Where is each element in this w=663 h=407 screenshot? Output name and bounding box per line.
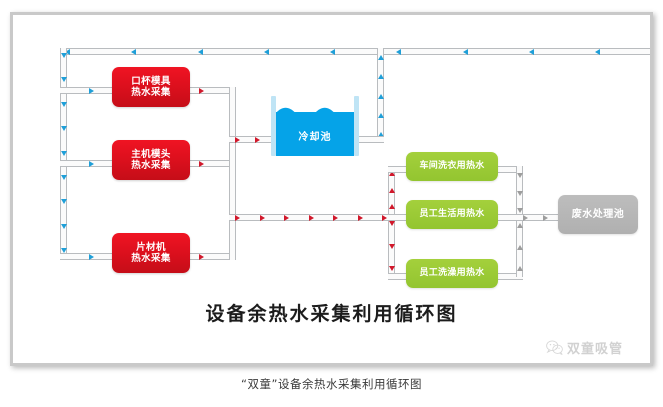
use-node-3[interactable]: 员工洗澡用热水 (406, 259, 498, 288)
hot-collector-upper (229, 87, 236, 167)
wechat-icon (546, 340, 563, 355)
source-node-2[interactable]: 主机模头 热水采集 (112, 140, 190, 180)
screenshot-root: 口杯模具 热水采集 主机模头 热水采集 片材机 热水采集 冷却池 (0, 0, 663, 407)
source-node-3-line1: 片材机 (136, 242, 166, 253)
source-node-1-line2: 热水采集 (131, 87, 171, 98)
source-node-3[interactable]: 片材机 热水采集 (112, 233, 190, 273)
cooling-pool-label: 冷却池 (271, 128, 359, 143)
return-pipe-top-seg (60, 48, 653, 55)
use-node-2-label: 员工生活用热水 (419, 209, 484, 220)
hot-collector-lower (229, 160, 236, 260)
waste-pool-label: 废水处理池 (572, 209, 625, 221)
source-node-3-line2: 热水采集 (131, 253, 171, 264)
drain-collector-lower (516, 214, 523, 277)
use-node-3-label: 员工洗澡用热水 (419, 268, 484, 279)
watermark-text: 双童吸管 (567, 338, 623, 357)
source-node-1-line1: 口杯模具 (131, 76, 171, 87)
image-caption: “双童”设备余热水采集利用循环图 (0, 376, 663, 392)
use-node-1[interactable]: 车间洗衣用热水 (406, 152, 498, 181)
diagram-canvas: 口杯模具 热水采集 主机模头 热水采集 片材机 热水采集 冷却池 (13, 15, 650, 363)
diagram-title: 设备余热水采集利用循环图 (13, 299, 650, 326)
diagram-frame: 口杯模具 热水采集 主机模头 热水采集 片材机 热水采集 冷却池 (10, 12, 653, 366)
cooling-pool-wall-right (354, 96, 359, 156)
watermark: 双童吸管 (546, 338, 623, 357)
hot-line-to-uses (229, 214, 394, 221)
cooling-pool-water-surface (276, 106, 354, 118)
source-node-2-line2: 热水采集 (131, 160, 171, 171)
source-node-1[interactable]: 口杯模具 热水采集 (112, 67, 190, 107)
cooling-pool[interactable]: 冷却池 (271, 96, 359, 156)
return-pipe-right (377, 48, 384, 143)
hot-distributor-downcomer (388, 214, 395, 276)
use-node-2[interactable]: 员工生活用热水 (406, 200, 498, 229)
use-node-1-label: 车间洗衣用热水 (419, 161, 484, 172)
hot-distributor-riser (388, 166, 395, 214)
return-pipe-left (60, 48, 67, 260)
source-node-2-line1: 主机模头 (131, 149, 171, 160)
drain-collector-upper (516, 166, 523, 218)
waste-pool-node[interactable]: 废水处理池 (558, 195, 638, 234)
